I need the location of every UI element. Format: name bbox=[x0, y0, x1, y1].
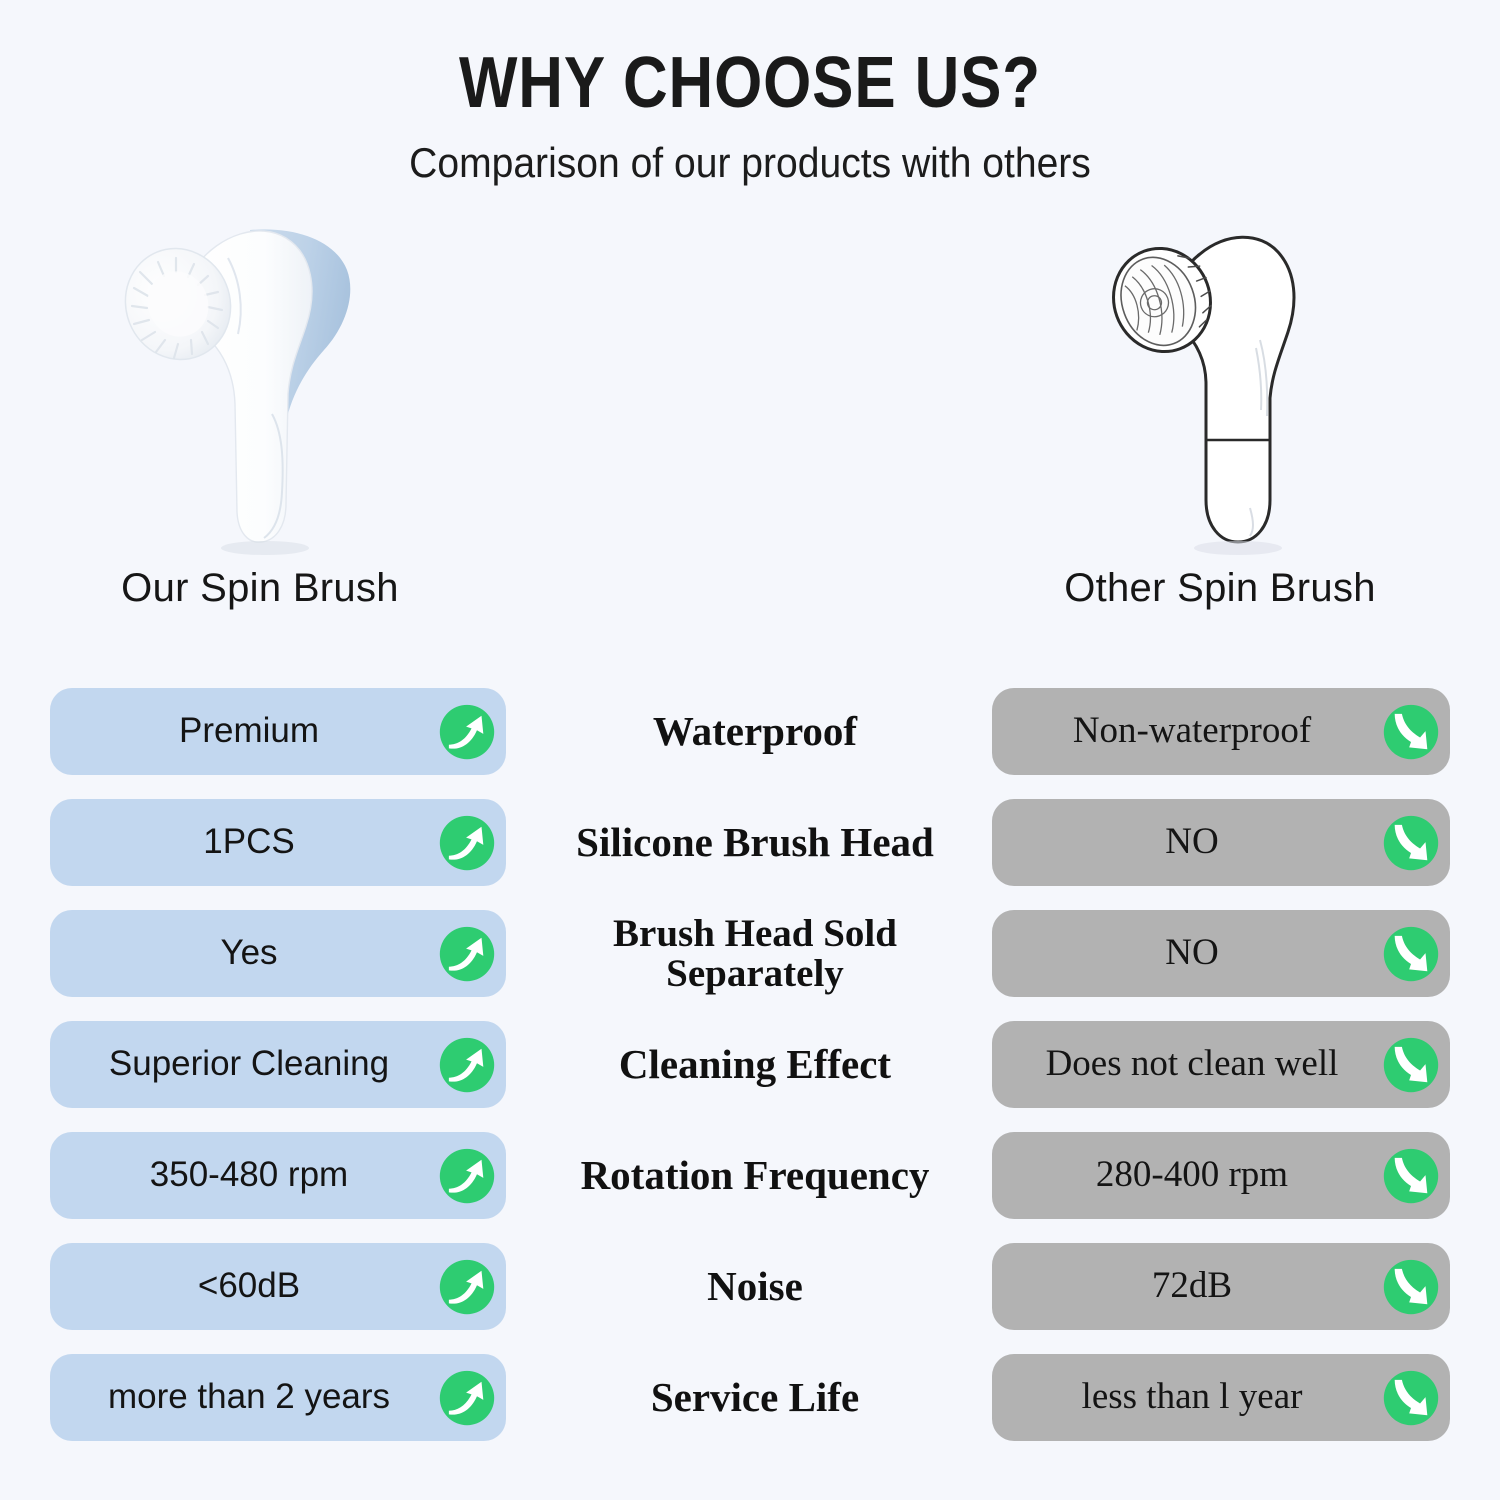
feature-label: Brush Head Sold Separately bbox=[520, 910, 990, 997]
other-value-pill: NO bbox=[992, 910, 1450, 997]
down-arrow-badge-icon bbox=[1382, 1258, 1440, 1316]
our-value-pill: Yes bbox=[50, 910, 506, 997]
down-arrow-badge-icon bbox=[1382, 814, 1440, 872]
other-value-pill: NO bbox=[992, 799, 1450, 886]
up-arrow-badge-icon bbox=[438, 925, 496, 983]
other-value-text: NO bbox=[1006, 822, 1378, 863]
feature-label-line2: Separately bbox=[666, 952, 844, 995]
our-value-pill: 1PCS bbox=[50, 799, 506, 886]
table-row: Premium Waterproof Non-waterproof bbox=[0, 688, 1500, 775]
feature-label: Cleaning Effect bbox=[520, 1021, 990, 1108]
other-value-pill: Non-waterproof bbox=[992, 688, 1450, 775]
down-arrow-badge-icon bbox=[1382, 1369, 1440, 1427]
header: WHY CHOOSE US? Comparison of our product… bbox=[0, 0, 1500, 186]
down-arrow-badge-icon bbox=[1382, 1036, 1440, 1094]
other-value-pill: 72dB bbox=[992, 1243, 1450, 1330]
product-showcase: Our Spin Brush Other Spin Brush bbox=[0, 198, 1500, 618]
our-value-pill: Superior Cleaning bbox=[50, 1021, 506, 1108]
feature-label: Waterproof bbox=[520, 688, 990, 775]
feature-label-line1: Brush Head Sold bbox=[613, 912, 897, 955]
our-value-pill: <60dB bbox=[50, 1243, 506, 1330]
our-value-text: 350-480 rpm bbox=[64, 1156, 434, 1195]
table-row: Superior Cleaning Cleaning Effect Does n… bbox=[0, 1021, 1500, 1108]
table-row: more than 2 years Service Life less than… bbox=[0, 1354, 1500, 1441]
our-value-pill: more than 2 years bbox=[50, 1354, 506, 1441]
our-value-pill: Premium bbox=[50, 688, 506, 775]
down-arrow-badge-icon bbox=[1382, 1147, 1440, 1205]
other-value-pill: Does not clean well bbox=[992, 1021, 1450, 1108]
our-spin-brush-illustration bbox=[100, 208, 400, 558]
table-row: 350-480 rpm Rotation Frequency 280-400 r… bbox=[0, 1132, 1500, 1219]
feature-label: Service Life bbox=[520, 1354, 990, 1441]
our-value-text: 1PCS bbox=[64, 823, 434, 862]
our-value-text: Superior Cleaning bbox=[64, 1045, 434, 1084]
our-product-image bbox=[40, 198, 460, 558]
our-product-caption: Our Spin Brush bbox=[40, 566, 480, 611]
table-row: <60dB Noise 72dB bbox=[0, 1243, 1500, 1330]
other-value-pill: less than l year bbox=[992, 1354, 1450, 1441]
other-product-image bbox=[1020, 198, 1440, 558]
other-value-text: 280-400 rpm bbox=[1006, 1155, 1378, 1196]
up-arrow-badge-icon bbox=[438, 1036, 496, 1094]
our-value-text: more than 2 years bbox=[64, 1378, 434, 1417]
other-value-text: Does not clean well bbox=[1006, 1044, 1378, 1085]
feature-label: Rotation Frequency bbox=[520, 1132, 990, 1219]
page-title: WHY CHOOSE US? bbox=[105, 46, 1395, 122]
up-arrow-badge-icon bbox=[438, 703, 496, 761]
up-arrow-badge-icon bbox=[438, 1258, 496, 1316]
other-spin-brush-illustration bbox=[1080, 208, 1380, 558]
table-row: 1PCS Silicone Brush Head NO bbox=[0, 799, 1500, 886]
our-value-pill: 350-480 rpm bbox=[50, 1132, 506, 1219]
other-value-text: 72dB bbox=[1006, 1266, 1378, 1307]
feature-label: Silicone Brush Head bbox=[520, 799, 990, 886]
our-value-text: Yes bbox=[64, 934, 434, 973]
comparison-table: Premium Waterproof Non-waterproof 1PCS S… bbox=[0, 688, 1500, 1465]
other-value-text: NO bbox=[1006, 933, 1378, 974]
our-value-text: Premium bbox=[64, 712, 434, 751]
up-arrow-badge-icon bbox=[438, 1369, 496, 1427]
page-subtitle: Comparison of our products with others bbox=[53, 140, 1448, 186]
down-arrow-badge-icon bbox=[1382, 703, 1440, 761]
feature-label: Noise bbox=[520, 1243, 990, 1330]
other-value-text: Non-waterproof bbox=[1006, 711, 1378, 752]
down-arrow-badge-icon bbox=[1382, 925, 1440, 983]
our-value-text: <60dB bbox=[64, 1267, 434, 1306]
up-arrow-badge-icon bbox=[438, 1147, 496, 1205]
other-value-text: less than l year bbox=[1006, 1377, 1378, 1418]
other-value-pill: 280-400 rpm bbox=[992, 1132, 1450, 1219]
up-arrow-badge-icon bbox=[438, 814, 496, 872]
other-product-caption: Other Spin Brush bbox=[1000, 566, 1440, 611]
table-row: Yes Brush Head Sold Separately NO bbox=[0, 910, 1500, 997]
